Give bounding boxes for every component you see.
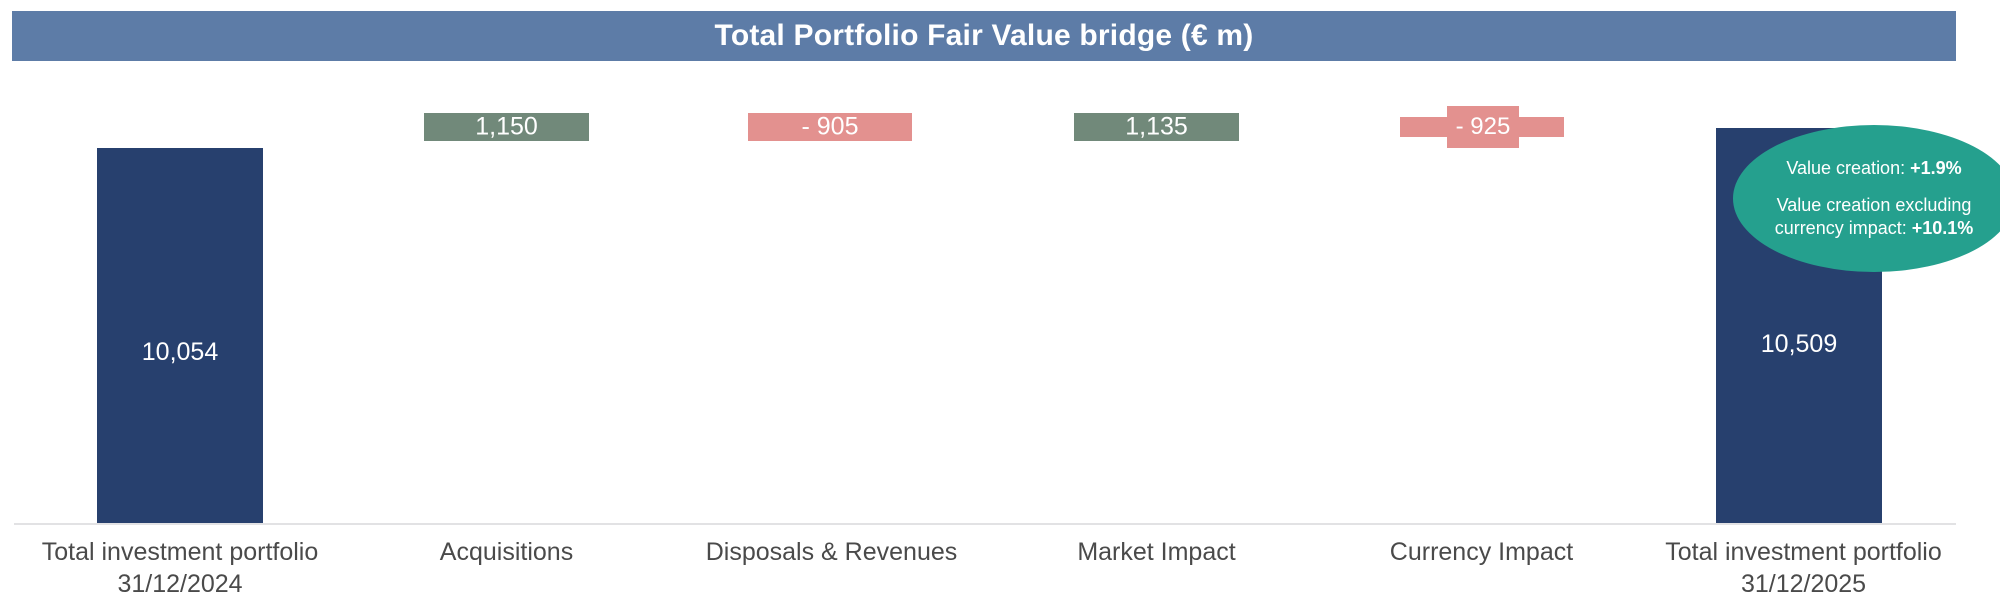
x-axis-line [14, 523, 1956, 525]
category-label-market-impact: Market Impact [993, 536, 1320, 568]
callout-line-value-creation: Value creation: +1.9% [1772, 157, 1975, 180]
bar-total-investment-portfolio-2024[interactable]: 10,054 [97, 148, 263, 523]
bar-value-label: 1,150 [424, 113, 589, 142]
callout-line-value-creation-ex-fx: Value creation excluding currency impact… [1761, 194, 1988, 240]
category-label-disposals-and-revenues: Disposals & Revenues [668, 536, 995, 568]
waterfall-chart: 10,054 1,150 - 905 1,135 - 925 10,509 Va… [0, 0, 2000, 605]
category-label-acquisitions: Acquisitions [343, 536, 670, 568]
bar-acquisitions[interactable]: 1,150 [424, 113, 589, 141]
callout-line1-value: +1.9% [1910, 158, 1962, 178]
callout-line2-value: +10.1% [1912, 218, 1974, 238]
callout-line1-prefix: Value creation: [1786, 158, 1910, 178]
bar-value-label: 10,509 [1716, 330, 1882, 359]
bar-disposals-and-revenues[interactable]: - 905 [748, 113, 912, 141]
x-axis-category-labels: Total investment portfolio 31/12/2024 Ac… [0, 536, 2000, 605]
bar-currency-impact-value-block[interactable]: - 925 [1447, 106, 1519, 148]
bar-value-label: 10,054 [97, 338, 263, 367]
bar-value-label: - 925 [1447, 113, 1519, 141]
value-creation-callout: Value creation: +1.9% Value creation exc… [1733, 125, 2000, 272]
bar-value-label: 1,135 [1074, 113, 1239, 142]
category-label-total-portfolio-2025: Total investment portfolio 31/12/2025 [1640, 536, 1967, 600]
bar-value-label: - 905 [748, 113, 912, 142]
category-label-total-portfolio-2024: Total investment portfolio 31/12/2024 [19, 536, 341, 600]
category-label-currency-impact: Currency Impact [1318, 536, 1645, 568]
bar-market-impact[interactable]: 1,135 [1074, 113, 1239, 141]
